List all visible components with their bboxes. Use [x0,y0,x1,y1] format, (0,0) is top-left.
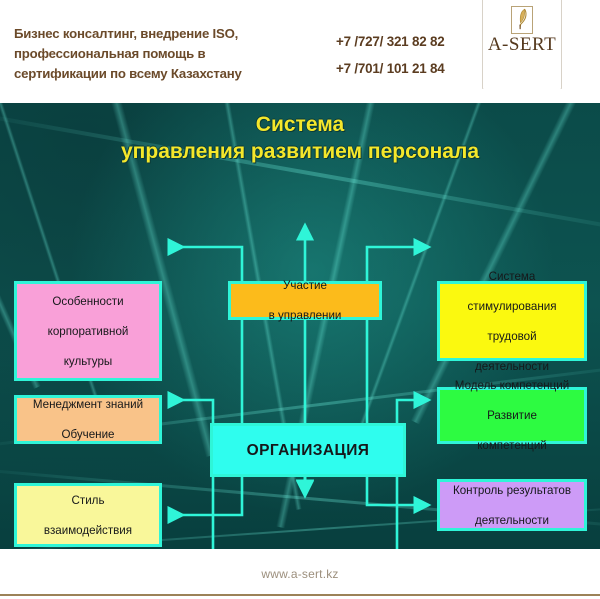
page-root: Бизнес консалтинг, внедрение ISO, профес… [0,0,600,599]
node-style-line-1: Стиль [40,493,136,508]
node-control-label: Контроль результатов деятельности [445,483,579,528]
node-motivation-system[interactable]: Система стимулирования трудовой деятельн… [437,281,587,361]
node-motivation-line-2: стимулирования [464,299,561,314]
node-control-line-2: деятельности [449,513,575,528]
node-culture-label: Особенности корпоративной культуры [40,294,137,369]
node-motivation-line-3: трудовой [464,329,561,344]
tagline-line-2: профессиональная помощь в [14,44,334,64]
header-phone-list: +7 /727/ 321 82 82 +7 /701/ 101 21 84 [336,28,471,82]
tagline-line-1: Бизнес консалтинг, внедрение ISO, [14,24,334,44]
node-participation-line-1: Участие [265,278,346,293]
node-culture-line-3: культуры [44,354,133,369]
node-knowledge-line-2: Обучение [29,427,147,442]
node-motivation-label: Система стимулирования трудовой деятельн… [460,269,565,374]
logo-wordmark: A-SERT [483,34,561,56]
phone-number-1[interactable]: +7 /727/ 321 82 82 [336,28,471,55]
node-motivation-line-1: Система [464,269,561,284]
node-knowledge-label: Менеджмент знаний Обучение [25,397,151,442]
node-culture-line-1: Особенности [44,294,133,309]
footer-divider [0,594,600,596]
header-tagline: Бизнес консалтинг, внедрение ISO, профес… [14,24,334,84]
node-style-line-2: взаимодействия [40,523,136,538]
diagram-panel: Система управления развитием персонала [0,103,600,549]
node-participation-line-2: в управлении [265,308,346,323]
footer-website-link[interactable]: www.a-sert.kz [0,567,600,581]
node-competence-model[interactable]: Модель компетенций Развитие компетенций [437,387,587,444]
node-culture[interactable]: Особенности корпоративной культуры [14,281,162,381]
node-knowledge-management[interactable]: Менеджмент знаний Обучение [14,395,162,444]
phone-number-2[interactable]: +7 /701/ 101 21 84 [336,55,471,82]
node-motivation-line-4: деятельности [464,359,561,374]
tagline-line-3: сертификации по всему Казахстану [14,64,334,84]
node-participation-label: Участие в управлении [261,278,350,323]
node-competence-line-3: компетенций [451,438,573,453]
a-sert-logo[interactable]: A-SERT [482,0,562,89]
site-header: Бизнес консалтинг, внедрение ISO, профес… [0,0,600,103]
node-competence-line-2: Развитие [451,408,573,423]
node-interaction-style[interactable]: Стиль взаимодействия [14,483,162,547]
node-results-control[interactable]: Контроль результатов деятельности [437,479,587,531]
node-competence-label: Модель компетенций Развитие компетенций [447,378,577,453]
site-footer: www.a-sert.kz [0,549,600,599]
node-organization-label: ОРГАНИЗАЦИЯ [243,443,374,458]
node-control-line-1: Контроль результатов [449,483,575,498]
node-organization[interactable]: ОРГАНИЗАЦИЯ [210,423,406,477]
node-culture-line-2: корпоративной [44,324,133,339]
quill-feather-icon [511,6,533,34]
node-knowledge-line-1: Менеджмент знаний [29,397,147,412]
node-style-label: Стиль взаимодействия [36,493,140,538]
node-participation[interactable]: Участие в управлении [228,281,382,320]
node-competence-line-1: Модель компетенций [451,378,573,393]
